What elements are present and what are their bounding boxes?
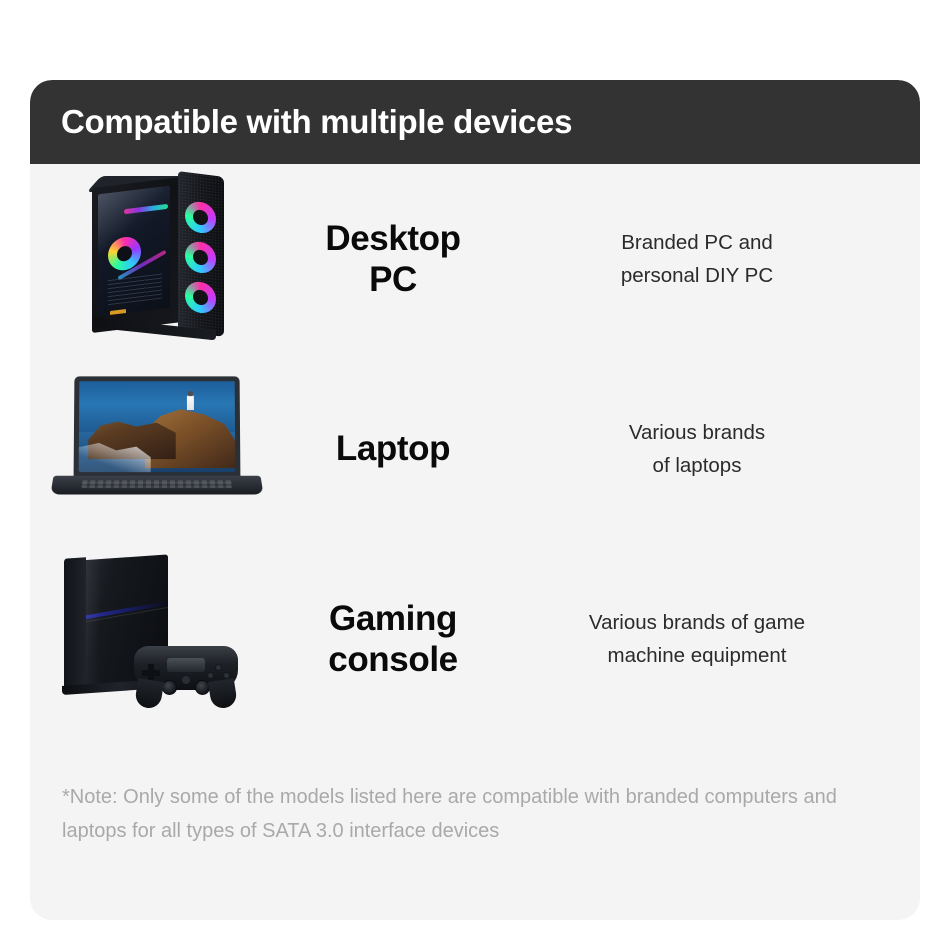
controller-left-thumbstick-icon: [162, 680, 177, 695]
device-rows: Desktop PC Branded PC and personal DIY P…: [30, 164, 920, 734]
pc-front-rgb-fan-icon: [185, 280, 216, 315]
device-title-line-1: Gaming: [278, 598, 508, 639]
compatibility-card: Compatible with multiple devices: [30, 80, 920, 920]
console-left-edge: [64, 557, 86, 691]
controller-face-button-icon: [207, 672, 214, 679]
device-title-desktop-pc: Desktop PC: [278, 218, 508, 301]
wallpaper-lighthouse-icon: [187, 395, 194, 410]
game-controller-icon: [134, 638, 238, 700]
device-title-line-1: Laptop: [278, 428, 508, 469]
pc-front-rgb-fan-icon: [185, 200, 216, 235]
laptop-media: [30, 354, 278, 544]
gaming-console-media: [30, 544, 278, 734]
controller-face-button-icon: [215, 664, 222, 671]
laptop-icon: [52, 376, 262, 508]
device-description-gaming-console: Various brands of game machine equipment: [508, 606, 920, 672]
controller-touchpad: [167, 658, 205, 672]
device-description-line-1: Branded PC and: [508, 226, 886, 259]
device-title-line-1: Desktop: [278, 218, 508, 259]
desktop-pc-media: [30, 164, 278, 354]
controller-left-grip: [134, 678, 164, 710]
device-title-laptop: Laptop: [278, 428, 508, 469]
desktop-pc-tower-icon: [92, 174, 224, 334]
pc-rgb-strip-icon: [124, 204, 168, 214]
device-description-line-2: machine equipment: [508, 639, 886, 672]
page-title: Compatible with multiple devices: [30, 103, 572, 141]
pc-motherboard-detail: [108, 273, 162, 306]
controller-shell: [134, 646, 238, 690]
gaming-console-icon: [56, 556, 248, 716]
device-description-line-1: Various brands of game: [508, 606, 886, 639]
pc-front-mesh-panel: [178, 171, 224, 337]
device-title-line-2: console: [278, 639, 508, 680]
device-title-gaming-console: Gaming console: [278, 598, 508, 681]
pc-front-rgb-fan-icon: [185, 240, 216, 275]
device-row-desktop-pc: Desktop PC Branded PC and personal DIY P…: [30, 164, 920, 354]
device-description-line-2: personal DIY PC: [508, 259, 886, 292]
compatibility-note: *Note: Only some of the models listed he…: [30, 780, 920, 849]
pc-glass-side-panel: [98, 186, 170, 317]
device-description-laptop: Various brands of laptops: [508, 416, 920, 482]
device-description-desktop-pc: Branded PC and personal DIY PC: [508, 226, 920, 292]
laptop-screen-wallpaper: [79, 381, 236, 472]
device-title-line-2: PC: [278, 259, 508, 300]
controller-right-grip: [208, 678, 238, 710]
laptop-keyboard: [81, 480, 232, 488]
device-row-gaming-console: Gaming console Various brands of game ma…: [30, 544, 920, 734]
laptop-lid: [74, 376, 241, 476]
controller-home-button-icon: [182, 676, 190, 684]
device-description-line-2: of laptops: [508, 449, 886, 482]
card-header: Compatible with multiple devices: [30, 80, 920, 164]
device-row-laptop: Laptop Various brands of laptops: [30, 354, 920, 544]
device-description-line-1: Various brands: [508, 416, 886, 449]
